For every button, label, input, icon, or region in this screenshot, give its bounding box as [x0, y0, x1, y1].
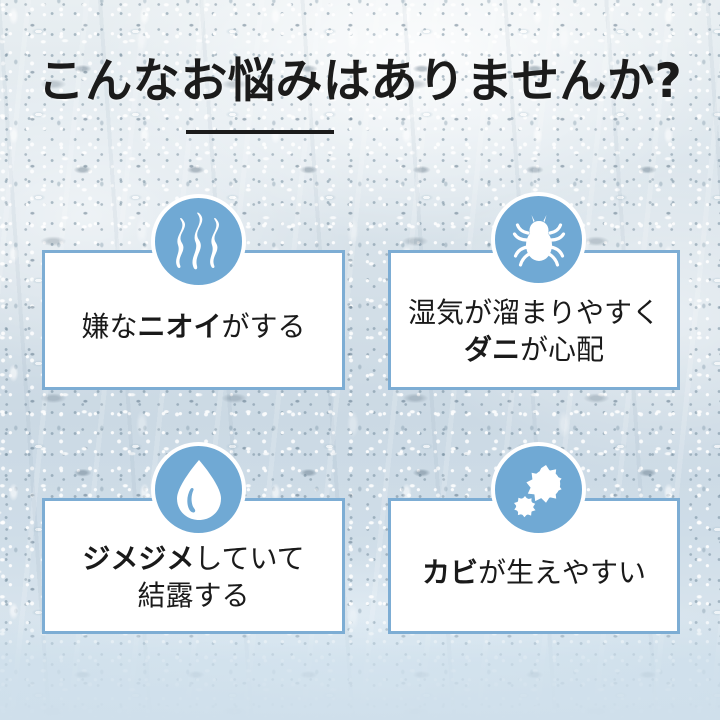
text-strong: ジメジメ: [82, 542, 194, 575]
card-dampness-line1: ジメジメしていて: [82, 542, 304, 575]
headline-underline: [186, 130, 334, 134]
text-run: がする: [222, 310, 306, 343]
text-strong: ニオイ: [137, 310, 221, 343]
card-dampness-text: ジメジメしていて 結露する: [74, 541, 312, 615]
page-headline: こんなお悩みはありませんか?: [0, 58, 720, 105]
text-run: が生えやすい: [478, 556, 646, 589]
card-mold-line1: カビが生えやすい: [422, 556, 646, 589]
steam-waves-icon: [151, 194, 246, 289]
text-strong: カビ: [422, 556, 478, 589]
mold-spores-icon: [491, 442, 586, 537]
text-run: が心配: [520, 333, 604, 366]
card-mites-line2: ダニが心配: [464, 333, 604, 366]
text-run: していて: [194, 542, 304, 575]
tick-mite-icon: [491, 192, 586, 287]
text-run: 湿気が溜まりやすく: [408, 296, 660, 329]
card-odor-line1: 嫌なニオイがする: [81, 310, 305, 343]
water-droplet-icon: [151, 442, 246, 537]
card-mold-text: カビが生えやすい: [414, 555, 654, 592]
text-run: 結露する: [137, 579, 249, 612]
text-run: 嫌な: [81, 310, 137, 343]
text-strong: ダニ: [464, 333, 520, 366]
card-mites-text: 湿気が溜まりやすく ダニが心配: [400, 295, 668, 369]
card-dampness-line2: 結露する: [137, 579, 249, 612]
banner-root: こんなお悩みはありませんか? 嫌なニオイがする: [0, 0, 720, 720]
card-odor-text: 嫌なニオイがする: [73, 309, 313, 346]
card-mites-line1: 湿気が溜まりやすく: [408, 296, 660, 329]
